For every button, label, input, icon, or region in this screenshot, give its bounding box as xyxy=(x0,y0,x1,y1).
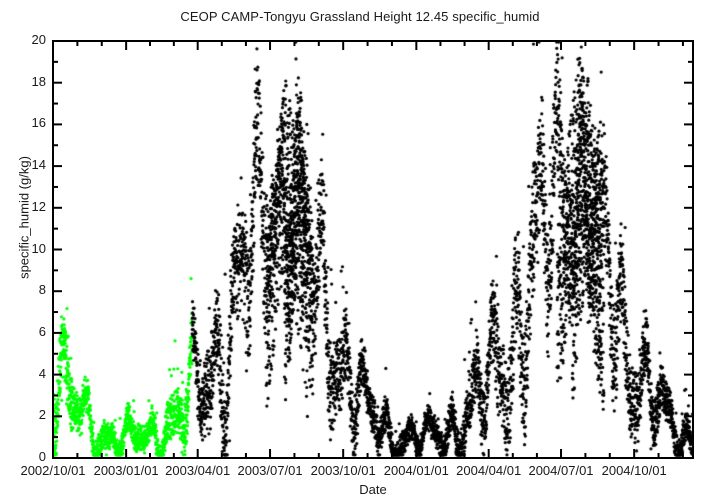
y-tick-label: 2 xyxy=(2,407,46,422)
y-tick-label: 20 xyxy=(2,32,46,47)
y-axis-label: specific_humid (g/kg) xyxy=(17,108,32,328)
x-tick-label: 2004/04/01 xyxy=(456,463,521,478)
scatter-plot-canvas xyxy=(53,41,693,458)
x-tick-label: 2003/10/01 xyxy=(311,463,376,478)
x-tick-label: 2003/04/01 xyxy=(165,463,230,478)
chart-figure: CEOP CAMP-Tongyu Grassland Height 12.45 … xyxy=(0,0,720,504)
x-tick-label: 2004/10/01 xyxy=(602,463,667,478)
y-tick-label: 0 xyxy=(2,449,46,464)
chart-title: CEOP CAMP-Tongyu Grassland Height 12.45 … xyxy=(0,9,720,24)
x-tick-label: 2003/01/01 xyxy=(94,463,159,478)
y-tick-label: 18 xyxy=(2,74,46,89)
y-tick-label: 4 xyxy=(2,366,46,381)
x-tick-label: 2002/10/01 xyxy=(20,463,85,478)
x-tick-label: 2004/01/01 xyxy=(384,463,449,478)
x-axis-label: Date xyxy=(53,482,693,497)
x-tick-label: 2003/07/01 xyxy=(237,463,302,478)
x-tick-label: 2004/07/01 xyxy=(528,463,593,478)
plot-area xyxy=(53,41,693,458)
